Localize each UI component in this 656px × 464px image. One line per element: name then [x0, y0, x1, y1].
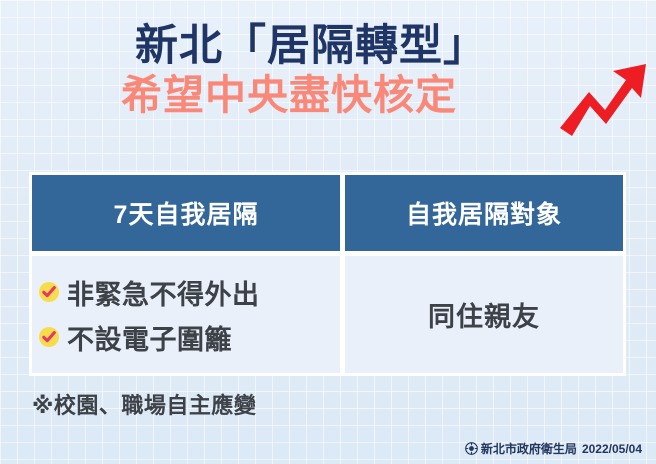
- check-circle-icon: [38, 281, 60, 303]
- attribution-date: 2022/05/04: [582, 442, 642, 456]
- table-body-row: 非緊急不得外出 不設電子圍籬 同住親友: [32, 256, 623, 373]
- infographic-poster: 新北「居隔轉型」 希望中央盡快核定 7天自我居隔 自我居隔對象: [0, 0, 656, 464]
- targets-value: 同住親友: [345, 295, 623, 334]
- list-item-label: 不設電子圍籬: [67, 318, 232, 357]
- attribution: 新北市政府衛生局 2022/05/04: [465, 440, 642, 457]
- comparison-table: 7天自我居隔 自我居隔對象 非緊急不得外出: [29, 172, 626, 376]
- upward-trend-arrow-icon: [556, 58, 650, 140]
- check-circle-icon: [38, 326, 60, 348]
- table-header-row: 7天自我居隔 自我居隔對象: [32, 175, 623, 251]
- attribution-organization: 新北市政府衛生局: [481, 440, 577, 457]
- table-cell-rules: 非緊急不得外出 不設電子圍籬: [32, 256, 340, 373]
- footnote-text: ※校園、職場自主應變: [32, 388, 256, 420]
- list-item: 非緊急不得外出: [38, 273, 340, 312]
- list-item-label: 非緊急不得外出: [67, 273, 260, 312]
- table-header-isolation-targets: 自我居隔對象: [345, 175, 623, 251]
- table-header-self-isolation-7days: 7天自我居隔: [32, 175, 340, 251]
- rules-list: 非緊急不得外出 不設電子圍籬: [32, 273, 340, 357]
- list-item: 不設電子圍籬: [38, 318, 340, 357]
- table-cell-targets: 同住親友: [345, 256, 623, 373]
- government-seal-icon: [465, 442, 478, 455]
